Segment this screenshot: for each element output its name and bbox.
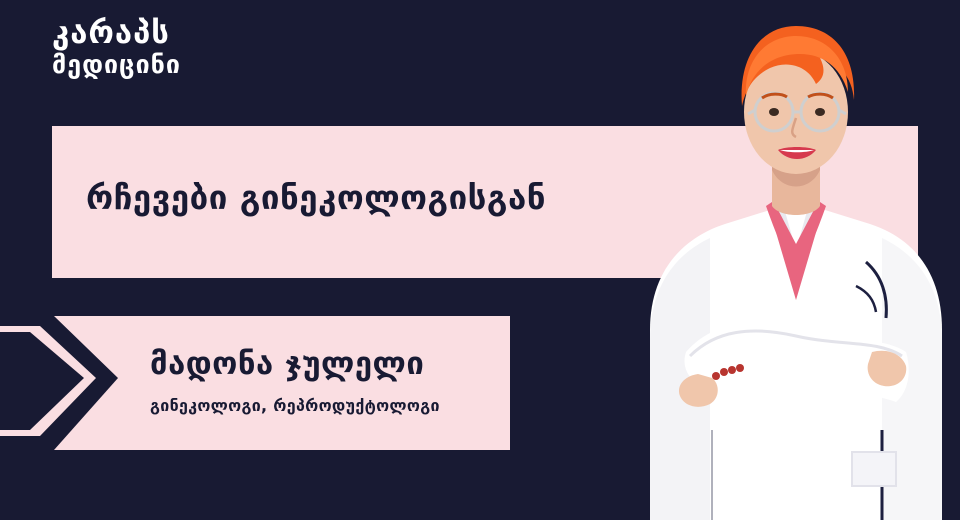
brand-logo: კარაპს მედიცინი (52, 18, 181, 77)
brand-logo-line1: კარაპს (52, 18, 181, 50)
name-band-shape (0, 316, 510, 450)
promo-banner: კარაპს მედიცინი რჩევები გინეკოლოგისგან მ… (0, 0, 960, 520)
banner-title: რჩევები გინეკოლოგისგან (86, 178, 546, 217)
doctor-photo (620, 0, 960, 520)
brand-logo-line2: მედიცინი (52, 52, 181, 78)
person-role: გინეკოლოგი, რეპროდუქტოლოგი (150, 396, 440, 415)
person-name: მადონა ჯულელი (150, 346, 424, 382)
name-band (0, 316, 510, 450)
